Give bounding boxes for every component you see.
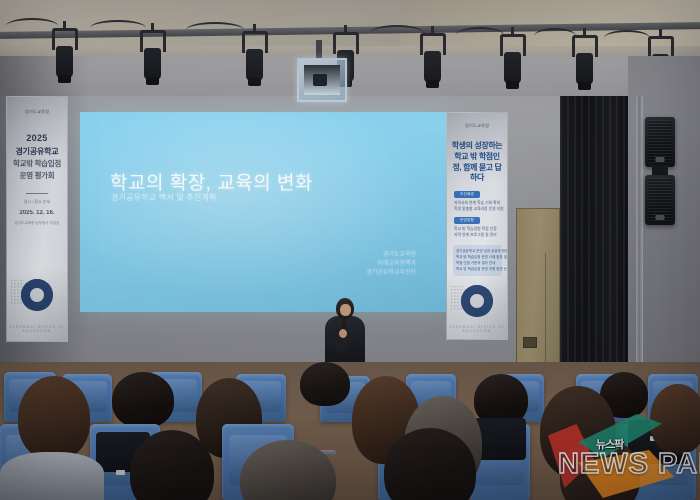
auditorium-photo: 학교의 확장, 교육의 변화 경기공유학교 백서 및 추진계획 경기도교육청 미…: [0, 0, 700, 500]
banner-left-line2: 학교밖 학습입점: [7, 158, 67, 169]
banner-left-year: 2025: [7, 133, 67, 143]
ceiling-cable: [370, 25, 424, 41]
banner-right-tag1-line: 학생 맞춤형 교육과정 운영 지원: [454, 207, 502, 212]
speaker-badge-icon: [656, 157, 665, 162]
banner-right-headline: 학생의 성장하는 학교 밖 학점인정, 함께 묻고 답하다: [451, 141, 503, 184]
projector-mount: [316, 40, 322, 60]
banner-left-line1: 경기공유학교: [7, 146, 67, 157]
banner-right-tag1-label: 추진배경: [454, 192, 480, 197]
slide-credit-line: 미래교육정책과: [366, 260, 416, 269]
banner-right-tag2-line: 학교 밖 학습경험 학점 인정: [454, 227, 502, 232]
presenter-face: [340, 304, 351, 316]
banner-right: 경기도교육청 학생의 성장하는 학교 밖 학점인정, 함께 묻고 답하다 추진배…: [446, 112, 508, 340]
ceiling-cable: [6, 18, 58, 34]
speaker-badge-icon: [656, 215, 665, 220]
slide-subtitle: 경기공유학교 백서 및 추진계획: [111, 192, 217, 203]
banner-right-tag1: 추진배경: [454, 191, 480, 198]
slide-credit-line: 경기공유학교추진단: [366, 269, 416, 278]
stage-curtain: [560, 96, 632, 396]
audience-shoulders: [0, 452, 104, 500]
banner-left-logo: 경기도교육청: [25, 109, 49, 115]
banner-right-emblem: [461, 285, 493, 317]
slide-surface: 학교의 확장, 교육의 변화 경기공유학교 백서 및 추진계획 경기도교육청 미…: [80, 112, 450, 312]
ceiling-cable: [534, 28, 576, 44]
banner-right-tag2: 운영방향: [454, 217, 480, 224]
banner-right-detail-box: 경기공유학교 운영 성과 공유와 현장 의견 수렴 학교 밖 학습입점 운영 사…: [453, 245, 502, 276]
watermark: 뉴스팍 NEWS PAK: [548, 412, 700, 500]
banner-left-date: 2025. 12. 16.: [7, 210, 67, 216]
banner-right-footer: GYEONGGI OFFICE OF EDUCATION: [447, 325, 507, 333]
banner-left-footer: GYEONGGI OFFICE OF EDUCATION: [7, 325, 67, 333]
ceiling-cable: [604, 30, 650, 46]
banner-left-emblem: [21, 279, 53, 311]
emblem-icon: [34, 292, 40, 299]
seat-number-tag: [116, 470, 125, 475]
presenter: [322, 298, 368, 370]
slide-credits: 경기도교육청 미래교육정책과 경기공유학교추진단: [366, 251, 416, 278]
slide-title: 학교의 확장, 교육의 변화: [110, 168, 313, 195]
banner-left-line3: 운영 평가회: [7, 170, 67, 181]
banner-right-box-line: 학교 밖 학습입점 운영 지원 방안 논의 및 향후 계획: [456, 266, 499, 272]
banner-left-place: 경기도교육청 남부청사 대강당: [7, 221, 67, 226]
wall-pipe: [636, 96, 643, 396]
banner-right-logo: 경기도교육청: [465, 123, 489, 129]
ceiling-cable: [186, 22, 244, 38]
door-seam: [545, 253, 546, 367]
ceiling-cable: [456, 27, 504, 43]
door-vent-icon: [523, 337, 537, 348]
wall-speaker-upper: [645, 117, 675, 167]
banner-right-tag1-line: 지역사회 연계 학습 기회 확대: [454, 201, 502, 206]
side-door[interactable]: [516, 208, 560, 366]
banner-left-small: 일시 / 장소 안내: [7, 199, 67, 205]
audience-head: [18, 376, 90, 460]
banner-left: 경기도교육청 2025 경기공유학교 학교밖 학습입점 운영 평가회 일시 / …: [6, 96, 68, 342]
banner-right-tag2-line: 지역 연계 프로그램 질 관리: [454, 233, 502, 238]
watermark-english-text: NEWS PAK: [558, 448, 700, 481]
audience-head: [300, 362, 350, 406]
banner-right-tag2-label: 운영방향: [454, 218, 480, 223]
emblem-icon: [474, 298, 480, 305]
ceiling-cable: [90, 20, 146, 36]
audience-head: [112, 372, 174, 428]
banner-left-divider: [26, 193, 48, 194]
ceiling-projector: [297, 58, 347, 102]
slide-credit-line: 경기도교육청: [366, 251, 416, 260]
wall-speaker-lower: [645, 175, 675, 225]
projection-screen: 학교의 확장, 교육의 변화 경기공유학교 백서 및 추진계획 경기도교육청 미…: [80, 112, 450, 312]
presenter-hand: [339, 329, 347, 338]
projector-lens-icon: [313, 74, 327, 86]
